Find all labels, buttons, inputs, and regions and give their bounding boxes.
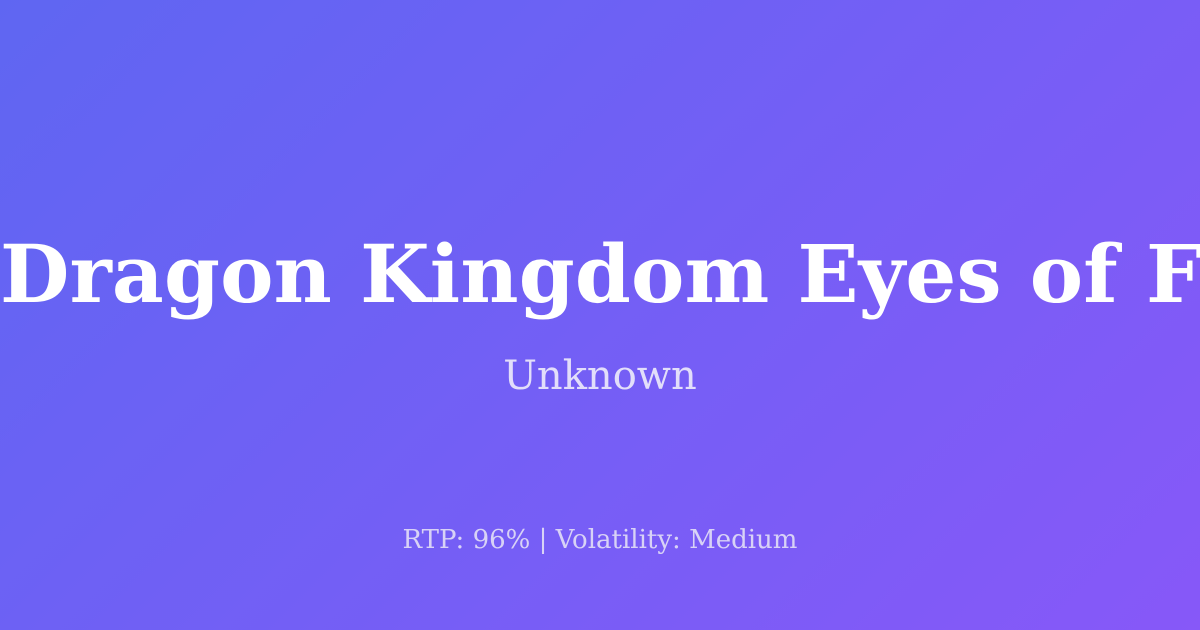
share-card: Dragon Kingdom Eyes of Fire Unknown RTP:… xyxy=(0,0,1200,630)
game-stats-line: RTP: 96% | Volatility: Medium xyxy=(0,527,1200,553)
game-provider-subtitle: Unknown xyxy=(503,356,697,396)
game-title: Dragon Kingdom Eyes of Fire xyxy=(0,234,1200,314)
